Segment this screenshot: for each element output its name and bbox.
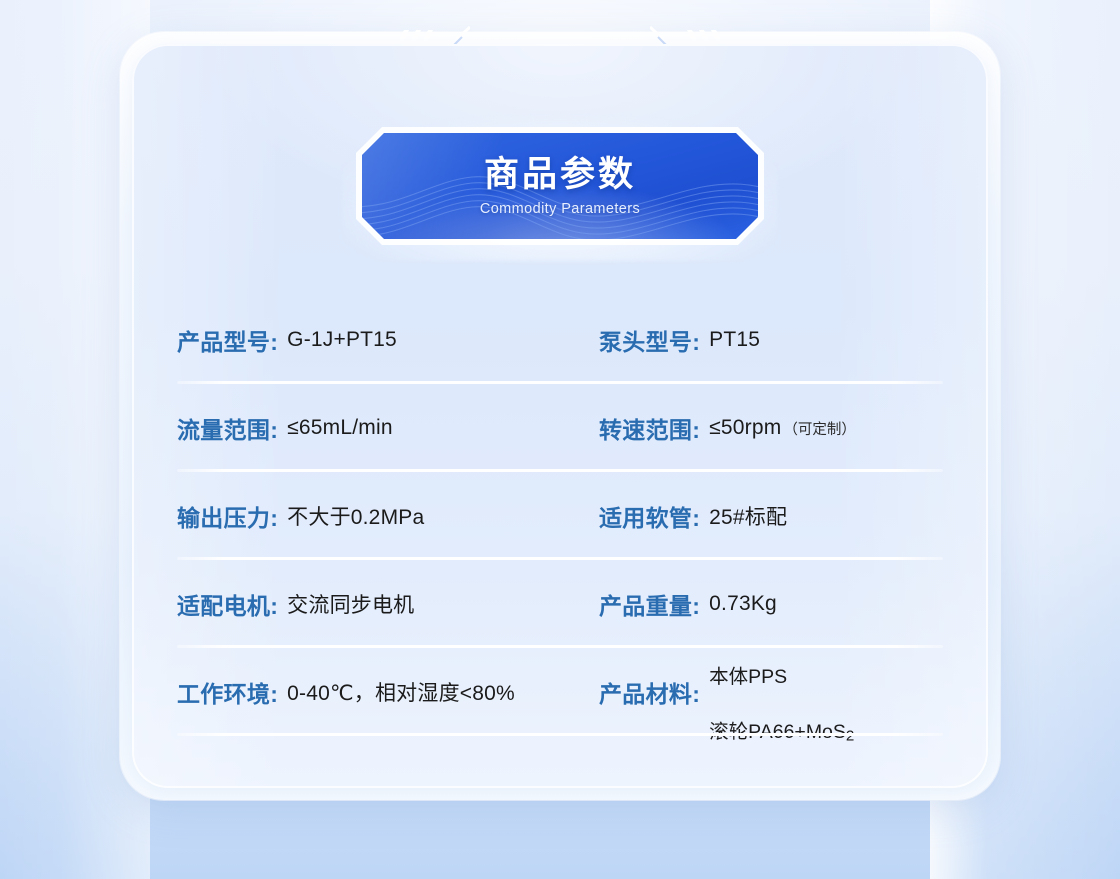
banner-subtitle: Commodity Parameters <box>480 201 640 217</box>
spec-item-matched-motor: 适配电机: 交流同步电机 <box>177 560 599 648</box>
spec-label: 转速范围: <box>599 411 700 445</box>
product-spec-page: 商品参数 Commodity Parameters 产品型号: G-1J+PT1… <box>0 0 1120 879</box>
spec-label: 泵头型号: <box>599 323 700 357</box>
spec-label: 适配电机: <box>177 587 278 621</box>
spec-value-note: （可定制） <box>783 418 856 439</box>
row-divider <box>177 733 943 736</box>
spec-label: 流量范围: <box>177 411 278 445</box>
spec-value: 0-40℃，相对湿度<80% <box>287 677 515 707</box>
spec-value: 0.73Kg <box>709 592 777 616</box>
spec-item-applicable-hose: 适用软管: 25#标配 <box>599 472 943 560</box>
spec-label: 输出压力: <box>177 499 278 533</box>
spec-item-speed-range: 转速范围: ≤50rpm （可定制） <box>599 384 943 472</box>
banner-title: 商品参数 <box>484 155 636 195</box>
spec-label: 工作环境: <box>177 675 278 709</box>
spec-value: PT15 <box>709 328 760 352</box>
banner-body: 商品参数 Commodity Parameters <box>362 133 758 239</box>
table-row: 工作环境: 0-40℃，相对湿度<80% 产品材料: 本体PPS 滚轮PA66+… <box>177 648 943 736</box>
spec-label: 产品重量: <box>599 587 700 621</box>
spec-item-product-model: 产品型号: G-1J+PT15 <box>177 296 599 384</box>
spec-label: 产品材料: <box>599 675 700 709</box>
section-banner: 商品参数 Commodity Parameters <box>356 127 764 245</box>
spec-value: ≤50rpm <box>709 416 781 440</box>
spec-item-output-pressure: 输出压力: 不大于0.2MPa <box>177 472 599 560</box>
spec-value: 25#标配 <box>709 501 787 531</box>
material-line-2-subscript: 2 <box>846 728 854 745</box>
table-row: 产品型号: G-1J+PT15 泵头型号: PT15 <box>177 296 943 384</box>
spec-item-pump-head-model: 泵头型号: PT15 <box>599 296 943 384</box>
spec-value: 交流同步电机 <box>287 589 414 619</box>
table-row: 输出压力: 不大于0.2MPa 适用软管: 25#标配 <box>177 472 943 560</box>
spec-item-working-environment: 工作环境: 0-40℃，相对湿度<80% <box>177 648 599 736</box>
spec-value: G-1J+PT15 <box>287 328 397 352</box>
spec-item-flow-range: 流量范围: ≤65mL/min <box>177 384 599 472</box>
material-line-1: 本体PPS <box>709 666 787 688</box>
spec-value: 不大于0.2MPa <box>287 501 424 531</box>
table-row: 流量范围: ≤65mL/min 转速范围: ≤50rpm （可定制） <box>177 384 943 472</box>
spec-item-product-material: 产品材料: 本体PPS 滚轮PA66+MoS2 <box>599 648 943 736</box>
spec-value: ≤65mL/min <box>287 416 393 440</box>
banner-text-group: 商品参数 Commodity Parameters <box>362 133 758 239</box>
spec-label: 适用软管: <box>599 499 700 533</box>
spec-label: 产品型号: <box>177 323 278 357</box>
spec-value-material: 本体PPS 滚轮PA66+MoS2 <box>709 636 854 747</box>
spec-item-product-weight: 产品重量: 0.73Kg <box>599 560 943 648</box>
spec-table: 产品型号: G-1J+PT15 泵头型号: PT15 流量范围: ≤65mL/m… <box>177 296 943 736</box>
table-row: 适配电机: 交流同步电机 产品重量: 0.73Kg <box>177 560 943 648</box>
